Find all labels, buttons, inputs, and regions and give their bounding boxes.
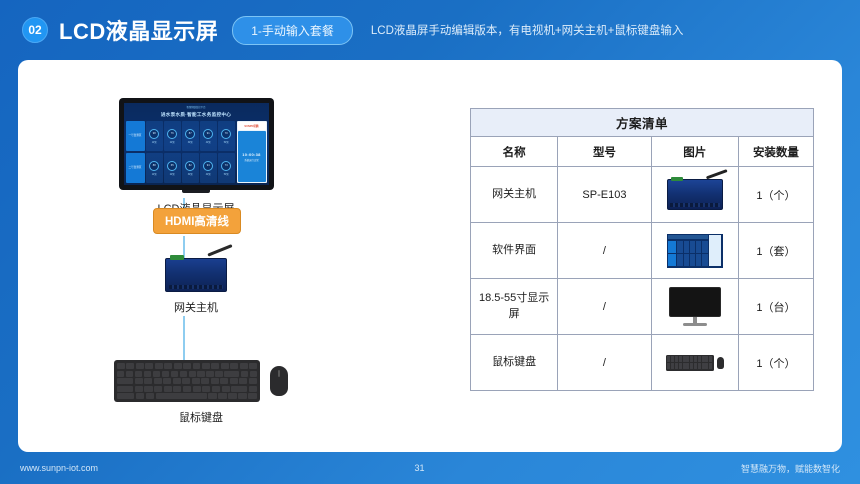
section-number-badge: 02	[22, 17, 48, 43]
gauge-icon: 87	[185, 129, 195, 139]
lcd-screen-title: 进水泵水质·智能工水务监控中心	[124, 110, 269, 120]
gateway-device-image	[654, 171, 736, 219]
plan-list-section: 方案清单 名称 型号 图片 安装数量 网关主机 SP-E103	[470, 108, 814, 391]
software-thumb-topbar	[668, 235, 708, 239]
cell-image	[651, 279, 738, 335]
cell-model: /	[558, 279, 651, 335]
terminal-block-icon	[671, 177, 683, 181]
lcd-side-value: 10:00:38	[242, 152, 260, 157]
keyboard-key-row	[117, 386, 257, 392]
lcd-gauge-cell: 82 3#泵	[182, 153, 199, 183]
keyboard-mouse-thumb	[666, 355, 724, 371]
gauge-icon: 73	[221, 161, 231, 171]
column-header-model: 型号	[558, 137, 651, 167]
cell-name: 鼠标键盘	[471, 335, 558, 391]
lcd-cell-caption: 5#泵	[224, 140, 229, 144]
cell-name: 软件界面	[471, 223, 558, 279]
gateway-ports	[169, 285, 223, 289]
node-lcd-display: 智慧物联监控平台 进水泵水质·智能工水务监控中心 一号监测区 98 1#泵	[106, 98, 286, 216]
table-row: 软件界面 /	[471, 223, 814, 279]
gauge-icon: 70	[221, 129, 231, 139]
lcd-screen-body: 一号监测区 98 1#泵 76 2#泵	[124, 120, 269, 185]
lcd-gauge-cell: 98 1#泵	[146, 121, 163, 151]
lcd-row-cells: 98 1#泵 76 2#泵 87 3#泵	[146, 121, 235, 151]
column-header-quantity: 安装数量	[738, 137, 813, 167]
antenna-icon	[706, 169, 728, 179]
lcd-cell-caption: 1#泵	[152, 140, 157, 144]
keyboard-mouse-image	[654, 339, 736, 387]
lcd-gauge-cell: 87 3#泵	[182, 121, 199, 151]
lcd-bezel: 智慧物联监控平台 进水泵水质·智能工水务监控中心 一号监测区 98 1#泵	[119, 98, 274, 190]
connector-gateway-to-keyboard	[183, 316, 185, 362]
keyboard-thumb	[666, 355, 714, 371]
cell-quantity: 1（个）	[738, 167, 813, 223]
lcd-cell-caption: 1#泵	[152, 172, 157, 176]
column-header-image: 图片	[651, 137, 738, 167]
table-row: 鼠标键盘 /	[471, 335, 814, 391]
package-pill-badge[interactable]: 1-手动输入套餐	[232, 16, 353, 45]
lcd-gauge-cell: 76 2#泵	[164, 121, 181, 151]
keyboard-image	[114, 360, 260, 402]
lcd-gauge-cell: 88 1#泵	[146, 153, 163, 183]
lcd-row-label: 一号监测区	[126, 121, 145, 151]
lcd-cell-caption: 4#泵	[206, 172, 211, 176]
lcd-cell-caption: 3#泵	[188, 172, 193, 176]
lcd-gauge-cell: 94 4#泵	[200, 153, 217, 183]
gateway-device-image	[165, 258, 227, 292]
lcd-cell-caption: 5#泵	[224, 172, 229, 176]
page-subtitle: LCD液晶屏手动编辑版本，有电视机+网关主机+鼠标键盘输入	[371, 22, 683, 38]
cell-image	[651, 167, 738, 223]
keyboard-key-row	[117, 363, 257, 369]
software-thumb	[667, 234, 723, 268]
terminal-block-icon	[170, 255, 184, 260]
cell-name: 网关主机	[471, 167, 558, 223]
lcd-gauge-cell: 70 5#泵	[218, 121, 235, 151]
slide-footer: www.sunpn-iot.com 31 智慧融万物，赋能数智化	[0, 452, 860, 484]
footer-slogan: 智慧融万物，赋能数智化	[741, 462, 840, 475]
cell-image	[651, 335, 738, 391]
plan-list-table: 方案清单 名称 型号 图片 安装数量 网关主机 SP-E103	[470, 108, 814, 391]
node-label-keyboard-mouse: 鼠标键盘	[76, 409, 326, 425]
lcd-side-sub: 系统运行正常	[244, 158, 258, 162]
gauge-icon: 82	[185, 161, 195, 171]
lcd-gauge-cell: 91 4#泵	[200, 121, 217, 151]
lcd-gauge-grid: 一号监测区 98 1#泵 76 2#泵	[126, 121, 235, 183]
monitor-thumb	[669, 287, 721, 326]
column-header-name: 名称	[471, 137, 558, 167]
lcd-screen-topbar: 智慧物联监控平台	[124, 103, 269, 110]
cell-quantity: 1（个）	[738, 335, 813, 391]
lcd-row-label: 二号监测区	[126, 153, 145, 183]
gauge-icon: 65	[167, 161, 177, 171]
node-label-gateway: 网关主机	[136, 299, 256, 315]
table-row: 18.5-55寸显示屏 / 1（台）	[471, 279, 814, 335]
lcd-stand	[182, 190, 210, 193]
lcd-row-cells: 88 1#泵 65 2#泵 82 3#泵	[146, 153, 235, 183]
keyboard-key-row	[117, 378, 257, 384]
node-gateway: 网关主机	[136, 258, 256, 315]
node-keyboard-mouse: 鼠标键盘	[76, 360, 326, 425]
monitor-base	[683, 323, 707, 326]
table-header-row: 名称 型号 图片 安装数量	[471, 137, 814, 167]
keyboard-key-row	[117, 393, 257, 399]
lcd-side-panel: SUNPN讯鹏 10:00:38 系统运行正常	[237, 121, 267, 183]
software-thumb-row	[668, 254, 708, 266]
cell-image	[651, 223, 738, 279]
cell-model: /	[558, 223, 651, 279]
lcd-screen: 智慧物联监控平台 进水泵水质·智能工水务监控中心 一号监测区 98 1#泵	[124, 103, 269, 185]
gauge-icon: 94	[203, 161, 213, 171]
lcd-side-body: 10:00:38 系统运行正常	[238, 131, 266, 182]
table-row: 网关主机 SP-E103 1（个）	[471, 167, 814, 223]
hdmi-cable-tag: HDMI高清线	[153, 208, 241, 234]
lcd-gauge-row: 一号监测区 98 1#泵 76 2#泵	[126, 121, 235, 151]
monitor-image	[654, 283, 736, 331]
footer-website[interactable]: www.sunpn-iot.com	[20, 463, 98, 473]
cell-quantity: 1（台）	[738, 279, 813, 335]
software-thumb-row	[668, 241, 708, 253]
cell-model: /	[558, 335, 651, 391]
cell-model: SP-E103	[558, 167, 651, 223]
gauge-icon: 91	[203, 129, 213, 139]
gauge-icon: 98	[149, 129, 159, 139]
monitor-screen	[669, 287, 721, 317]
gauge-icon: 88	[149, 161, 159, 171]
footer-page-number: 31	[98, 463, 741, 473]
lcd-gauge-cell: 65 2#泵	[164, 153, 181, 183]
antenna-icon	[207, 244, 232, 257]
lcd-gauge-row: 二号监测区 88 1#泵 65 2#泵	[126, 153, 235, 183]
content-card: 智慧物联监控平台 进水泵水质·智能工水务监控中心 一号监测区 98 1#泵	[18, 60, 842, 452]
cell-quantity: 1（套）	[738, 223, 813, 279]
topology-diagram: 智慧物联监控平台 进水泵水质·智能工水务监控中心 一号监测区 98 1#泵	[18, 60, 458, 452]
software-thumb-side	[709, 235, 721, 266]
cell-name: 18.5-55寸显示屏	[471, 279, 558, 335]
lcd-gauge-cell: 73 5#泵	[218, 153, 235, 183]
lcd-cell-caption: 3#泵	[188, 140, 193, 144]
lcd-side-brand: SUNPN讯鹏	[238, 122, 266, 130]
lcd-cell-caption: 4#泵	[206, 140, 211, 144]
table-title: 方案清单	[471, 109, 814, 137]
software-ui-image	[654, 227, 736, 275]
lcd-cell-caption: 2#泵	[170, 172, 175, 176]
lcd-cell-caption: 2#泵	[170, 140, 175, 144]
mouse-image	[270, 366, 288, 396]
gateway-ports	[670, 203, 720, 207]
slide-header: 02 LCD液晶显示屏 1-手动输入套餐 LCD液晶屏手动编辑版本，有电视机+网…	[0, 0, 860, 60]
page-title: LCD液晶显示屏	[59, 14, 218, 46]
table-title-row: 方案清单	[471, 109, 814, 137]
gateway-thumb	[667, 179, 723, 210]
software-thumb-main	[668, 235, 708, 266]
keyboard-key-row	[117, 371, 257, 377]
keyboard-mouse-row	[76, 360, 326, 402]
gauge-icon: 76	[167, 129, 177, 139]
mouse-thumb	[717, 357, 724, 369]
